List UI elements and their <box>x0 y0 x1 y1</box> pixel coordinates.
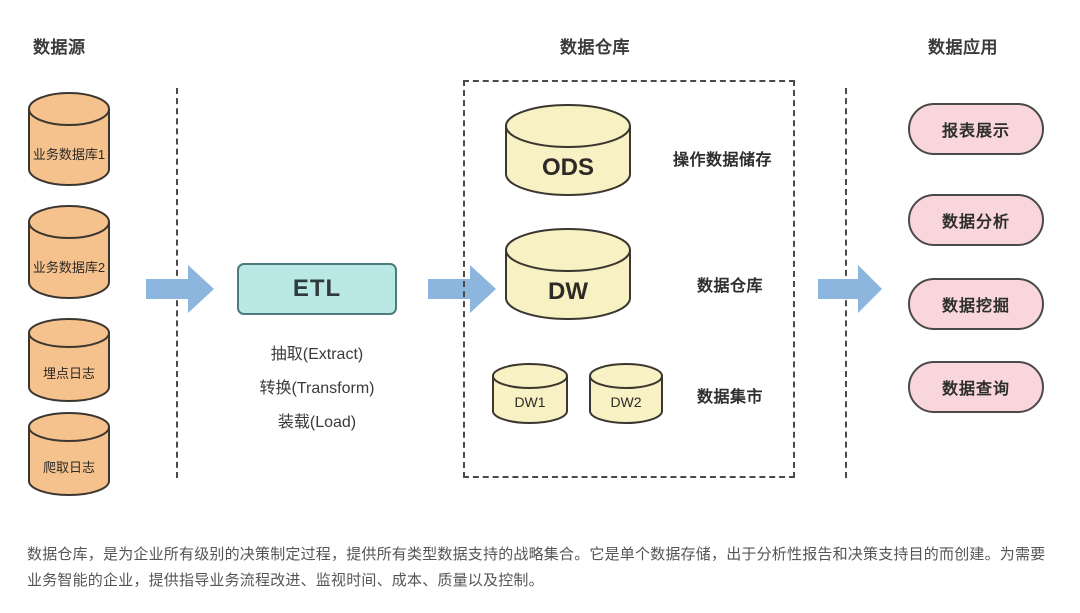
data-mart-cylinder-1[interactable]: DW1 <box>492 363 568 425</box>
ods-cylinder[interactable]: ODS <box>505 104 631 196</box>
arrow-warehouse-to-application <box>818 265 882 313</box>
dw-side-label: 数据仓库 <box>697 272 763 296</box>
ods-side-label: 操作数据储存 <box>673 146 772 170</box>
etl-step-load: 装载(Load) <box>237 408 397 432</box>
section-title-data-source: 数据源 <box>33 33 86 58</box>
application-report-display[interactable]: 报表展示 <box>908 103 1044 155</box>
data-source-cylinder-3[interactable]: 埋点日志 <box>28 318 110 402</box>
etl-label: ETL <box>293 275 341 303</box>
data-source-cylinder-4[interactable]: 爬取日志 <box>28 412 110 496</box>
application-data-analysis[interactable]: 数据分析 <box>908 194 1044 246</box>
diagram-canvas: 数据源 数据仓库 数据应用 业务数据库1 业务数据库2 埋点日志 爬取日志 <box>0 0 1080 613</box>
etl-box[interactable]: ETL <box>237 263 397 315</box>
section-title-data-application: 数据应用 <box>928 33 998 58</box>
application-data-query[interactable]: 数据查询 <box>908 361 1044 413</box>
data-mart-cylinder-2[interactable]: DW2 <box>589 363 663 425</box>
footer-description: 数据仓库，是为企业所有级别的决策制定过程，提供所有类型数据支持的战略集合。它是单… <box>27 542 1047 594</box>
etl-step-transform: 转换(Transform) <box>237 374 397 398</box>
application-label-2: 数据分析 <box>942 208 1010 232</box>
etl-step-extract: 抽取(Extract) <box>237 340 397 364</box>
arrow-source-to-etl <box>146 265 214 313</box>
data-source-cylinder-2[interactable]: 业务数据库2 <box>28 205 110 299</box>
application-label-3: 数据挖掘 <box>942 292 1010 316</box>
application-data-mining[interactable]: 数据挖掘 <box>908 278 1044 330</box>
data-mart-side-label: 数据集市 <box>697 383 763 407</box>
section-title-data-warehouse: 数据仓库 <box>560 33 630 58</box>
application-label-4: 数据查询 <box>942 375 1010 399</box>
etl-steps-list: 抽取(Extract) 转换(Transform) 装载(Load) <box>237 340 397 440</box>
data-source-cylinder-1[interactable]: 业务数据库1 <box>28 92 110 186</box>
application-label-1: 报表展示 <box>942 117 1010 141</box>
dw-cylinder[interactable]: DW <box>505 228 631 320</box>
